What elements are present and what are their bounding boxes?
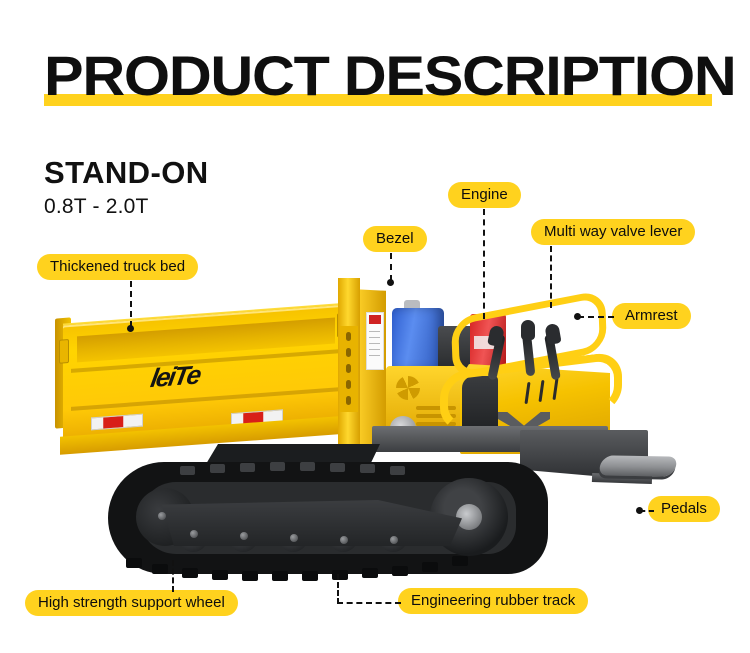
leader-engine (483, 209, 485, 319)
control-lever-knob-2 (521, 320, 535, 340)
callout-high-strength-support-wheel[interactable]: High strength support wheel (25, 590, 238, 616)
hydraulic-tank (392, 308, 444, 370)
page-title: PRODUCT DESCRIPTION (44, 46, 736, 106)
fan-icon (396, 376, 420, 400)
product-photo: leiTe (0, 230, 750, 620)
leader-dot-armrest (574, 313, 581, 320)
callout-engineering-rubber-track[interactable]: Engineering rubber track (398, 588, 588, 614)
leader-engineering-rubber-track (337, 574, 401, 604)
callout-pedals[interactable]: Pedals (648, 496, 720, 522)
leader-dot-pedals (636, 507, 643, 514)
leader-armrest (578, 316, 614, 318)
product-description-page: PRODUCT DESCRIPTION STAND-ON 0.8T - 2.0T… (0, 0, 750, 653)
leader-dot-bezel (387, 279, 394, 286)
pedal-plate (597, 455, 679, 476)
page-header: PRODUCT DESCRIPTION (44, 46, 724, 116)
product-capacity: 0.8T - 2.0T (44, 195, 149, 219)
callout-bezel[interactable]: Bezel (363, 226, 427, 252)
reflector-left (91, 414, 143, 431)
truck-bed-seam-lower (71, 387, 339, 411)
warning-decal (366, 312, 384, 370)
callout-multi-way-valve-lever[interactable]: Multi way valve lever (531, 219, 695, 245)
lift-frame-front (338, 278, 360, 446)
frame-perforated-plate (340, 326, 358, 412)
product-subtitle: STAND-ON (44, 155, 209, 191)
leader-thickened-truck-bed (130, 281, 132, 327)
callout-engine[interactable]: Engine (448, 182, 521, 208)
drive-sprocket-hub (456, 504, 482, 530)
callout-armrest[interactable]: Armrest (612, 303, 691, 329)
leader-multi-way-valve-lever (550, 246, 552, 308)
brand-logo: leiTe (148, 359, 202, 394)
leader-dot-thickened-truck-bed (127, 325, 134, 332)
callout-thickened-truck-bed[interactable]: Thickened truck bed (37, 254, 198, 280)
leader-bezel (390, 253, 392, 281)
bed-hinge-left (59, 339, 69, 364)
leader-high-strength-support-wheel (172, 560, 174, 592)
